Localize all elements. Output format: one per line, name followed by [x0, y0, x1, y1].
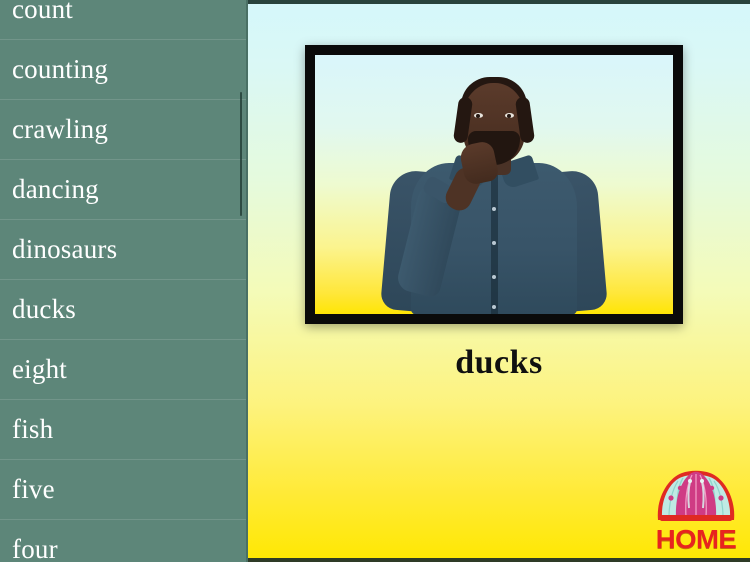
top-edge-strip: [248, 0, 750, 4]
sidebar-item-label: ducks: [12, 296, 76, 323]
sidebar-item-crawling[interactable]: crawling: [0, 100, 248, 160]
sidebar-item-five[interactable]: five: [0, 460, 248, 520]
home-button-label: HOME: [649, 526, 742, 552]
peacock-fan-icon: [652, 468, 740, 522]
video-stage: [315, 55, 673, 314]
sidebar-item-fish[interactable]: fish: [0, 400, 248, 460]
sidebar-item-label: crawling: [12, 116, 108, 143]
sidebar-item-count[interactable]: count: [0, 0, 248, 40]
caption: ducks: [248, 344, 750, 382]
sidebar-item-dancing[interactable]: dancing: [0, 160, 248, 220]
sidebar-item-label: five: [12, 476, 55, 503]
sidebar-item-label: count: [12, 0, 73, 23]
sidebar-item-label: dancing: [12, 176, 99, 203]
sidebar-item-four[interactable]: four: [0, 520, 248, 562]
word-caption: ducks: [455, 344, 543, 381]
sidebar-scrollbar[interactable]: [239, 0, 243, 562]
app-root: count counting crawling dancing dinosaur…: [0, 0, 750, 562]
sidebar-item-counting[interactable]: counting: [0, 40, 248, 100]
home-button[interactable]: HOME: [652, 468, 740, 554]
main-panel: ducks: [248, 0, 750, 562]
sidebar-item-label: fish: [12, 416, 53, 443]
signer-figure: [315, 55, 673, 314]
signer-shirt-button: [492, 305, 496, 309]
sidebar[interactable]: count counting crawling dancing dinosaur…: [0, 0, 248, 562]
sign-language-video[interactable]: [305, 45, 683, 324]
scrollbar-thumb[interactable]: [240, 92, 242, 216]
signer-pupil-right: [507, 114, 511, 118]
sidebar-item-label: four: [12, 536, 58, 562]
sidebar-item-eight[interactable]: eight: [0, 340, 248, 400]
sidebar-item-label: dinosaurs: [12, 236, 117, 263]
signer-shirt-button: [492, 207, 496, 211]
sidebar-item-label: eight: [12, 356, 67, 383]
sidebar-item-dinosaurs[interactable]: dinosaurs: [0, 220, 248, 280]
sidebar-item-label: counting: [12, 56, 108, 83]
signer-shirt-button: [492, 275, 496, 279]
sidebar-item-ducks[interactable]: ducks: [0, 280, 248, 340]
signer-pupil-left: [476, 114, 480, 118]
signer-shirt-button: [492, 241, 496, 245]
bottom-edge-strip: [248, 558, 750, 562]
word-list[interactable]: count counting crawling dancing dinosaur…: [0, 0, 248, 562]
